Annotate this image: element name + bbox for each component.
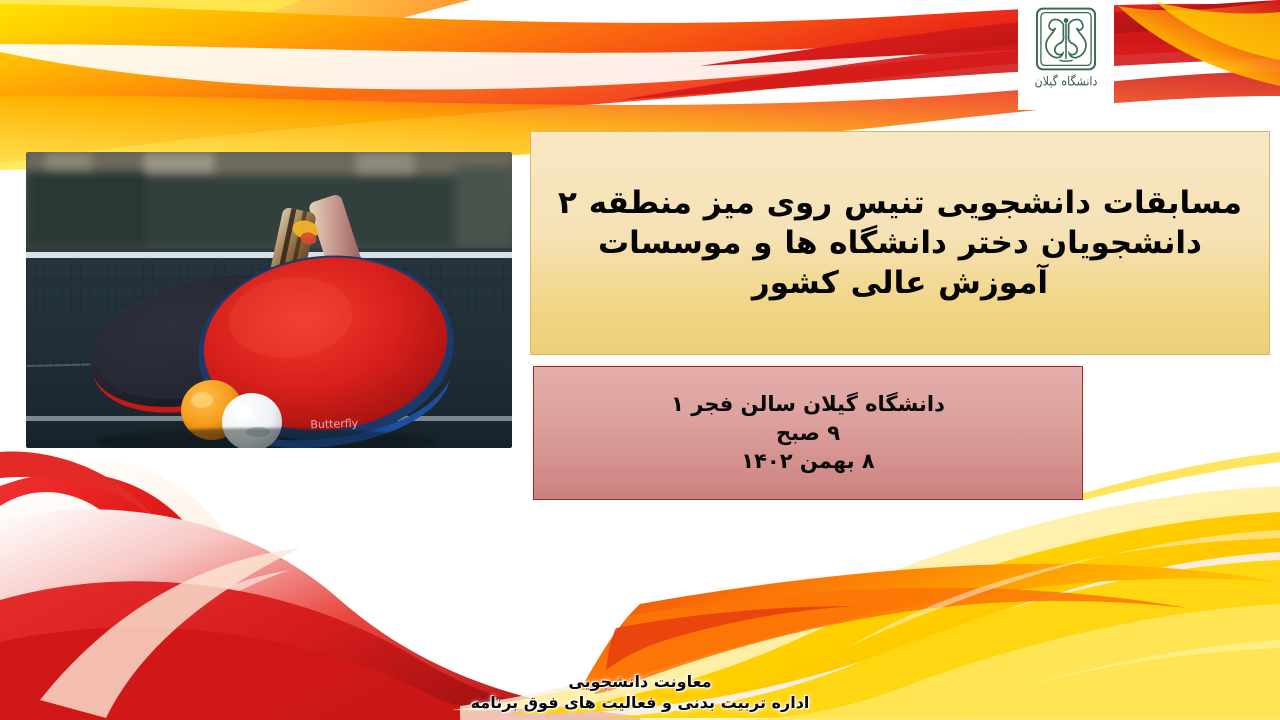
event-details-box: دانشگاه گیلان سالن فجر ۱ ۹ صبح ۸ بهمن ۱۴…	[533, 366, 1083, 500]
event-date: ۸ بهمن ۱۴۰۲	[741, 447, 874, 476]
footer-organization: معاونت دانشجویی اداره تربیت بدنی و فعالی…	[0, 671, 1280, 714]
footer-line-deputy: معاونت دانشجویی	[0, 671, 1280, 693]
poster-title: مسابقات دانشجویی تنیس روی میز منطقه ۲ دا…	[545, 183, 1255, 304]
table-tennis-photo: Butterfly	[26, 152, 512, 448]
university-emblem-icon	[1033, 6, 1099, 72]
event-venue: دانشگاه گیلان سالن فجر ۱	[671, 390, 945, 419]
poster-canvas: دانشگاه گیلان	[0, 0, 1280, 720]
university-logo: دانشگاه گیلان	[1018, 0, 1114, 110]
title-box: مسابقات دانشجویی تنیس روی میز منطقه ۲ دا…	[530, 131, 1270, 355]
event-time: ۹ صبح	[776, 419, 840, 448]
logo-caption: دانشگاه گیلان	[1035, 74, 1098, 89]
footer-line-department: اداره تربیت بدنی و فعالیت های فوق برنامه	[0, 692, 1280, 714]
